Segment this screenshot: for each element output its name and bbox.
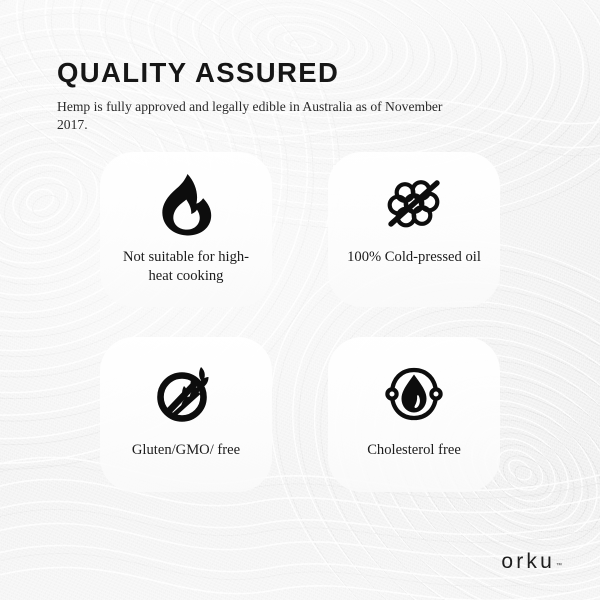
no-wheat-icon — [153, 361, 219, 427]
oil-droplet-cycle-icon — [381, 361, 447, 427]
feature-card-label: 100% Cold-pressed oil — [347, 248, 481, 267]
page-title: QUALITY ASSURED — [57, 58, 527, 89]
feature-card-cold-pressed: 100% Cold-pressed oil — [328, 152, 500, 307]
feature-card-label: Cholesterol free — [367, 441, 461, 460]
brand-wordmark: orku — [501, 551, 555, 572]
feature-card-high-heat: Not suitable for high-heat cooking — [100, 152, 272, 307]
feature-card-gluten-gmo-free: Gluten/GMO/ free — [100, 337, 272, 492]
trademark-symbol: ™ — [556, 563, 562, 569]
feature-card-cholesterol-free: Cholesterol free — [328, 337, 500, 492]
feature-card-grid: Not suitable for high-heat cooking — [100, 152, 500, 507]
feature-card-label: Not suitable for high-heat cooking — [111, 248, 261, 287]
no-heat-bubbles-icon — [381, 172, 447, 238]
page-subtitle: Hemp is fully approved and legally edibl… — [57, 98, 457, 134]
flame-icon — [153, 172, 219, 238]
header: QUALITY ASSURED Hemp is fully approved a… — [57, 58, 527, 134]
feature-card-label: Gluten/GMO/ free — [132, 441, 240, 460]
brand-logo: orku ™ — [501, 551, 562, 572]
